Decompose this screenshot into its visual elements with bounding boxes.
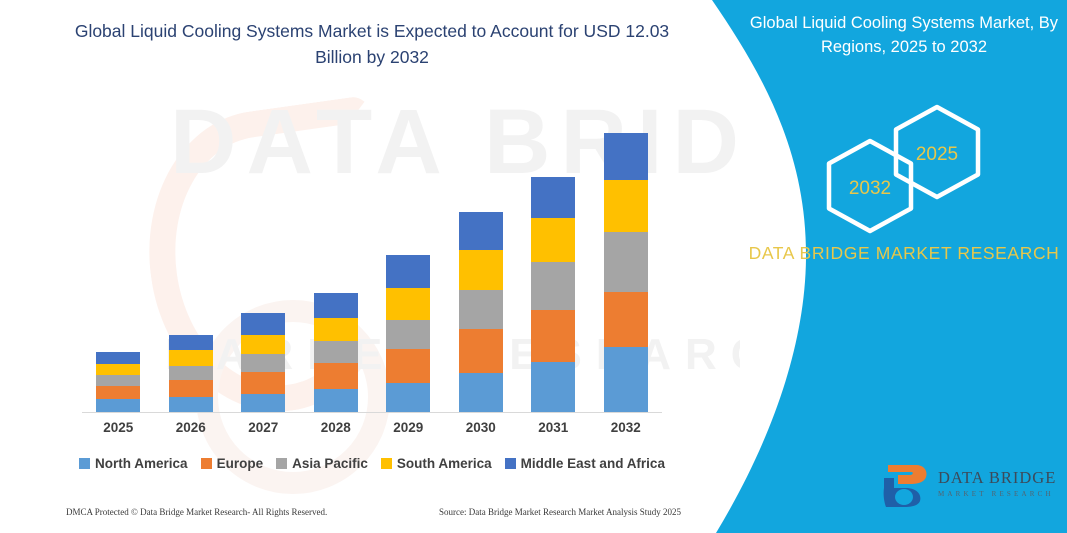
legend-label: Europe: [217, 456, 264, 471]
bar-segment: [531, 310, 575, 362]
x-axis-label-2029: 2029: [373, 420, 443, 435]
chart-title: Global Liquid Cooling Systems Market is …: [62, 18, 682, 71]
bar-segment: [604, 232, 648, 292]
bar-segment: [459, 329, 503, 373]
x-axis-label-2031: 2031: [518, 420, 588, 435]
bar-segment: [241, 354, 285, 372]
infographic-canvas: DATA BRIDGE MARKET RESEARCH Global Liqui…: [0, 0, 1067, 533]
logo-subtitle: MARKET RESEARCH: [938, 490, 1056, 498]
legend-item[interactable]: South America: [381, 456, 492, 471]
legend-label: North America: [95, 456, 188, 471]
bar-segment: [531, 218, 575, 262]
bar-segment: [531, 262, 575, 310]
panel-title: Global Liquid Cooling Systems Market, By…: [746, 12, 1062, 60]
bar-segment: [386, 320, 430, 349]
bar-segment: [169, 397, 213, 412]
bar-segment: [314, 363, 358, 389]
bar-segment: [531, 362, 575, 412]
hexagon-badge-2025: 2025: [890, 103, 984, 206]
bar-column-2026: [169, 335, 213, 412]
bar-segment: [386, 349, 430, 383]
bar-segment: [241, 335, 285, 354]
x-axis-label-2025: 2025: [83, 420, 153, 435]
left-content-area: Global Liquid Cooling Systems Market is …: [0, 0, 740, 533]
x-axis-label-2026: 2026: [156, 420, 226, 435]
bar-column-2031: [531, 177, 575, 412]
footer-source: Source: Data Bridge Market Research Mark…: [439, 507, 681, 517]
right-panel-content: Global Liquid Cooling Systems Market, By…: [740, 0, 1067, 533]
bar-segment: [459, 212, 503, 250]
bar-segment: [96, 352, 140, 364]
bar-segment: [386, 383, 430, 412]
brand-name: DATA BRIDGE MARKET RESEARCH: [746, 240, 1062, 266]
logo-text-block: DATA BRIDGE MARKET RESEARCH: [938, 468, 1056, 498]
legend-item[interactable]: Europe: [201, 456, 264, 471]
bar-segment: [169, 350, 213, 366]
bar-column-2030: [459, 212, 503, 412]
legend-swatch-icon: [381, 458, 392, 469]
bar-segment: [169, 380, 213, 397]
legend-item[interactable]: Middle East and Africa: [505, 456, 665, 471]
bar-segment: [96, 375, 140, 386]
bar-segment: [459, 250, 503, 290]
bar-column-2032: [604, 133, 648, 412]
bar-segment: [531, 177, 575, 218]
bar-segment: [241, 372, 285, 394]
bar-segment: [241, 394, 285, 412]
x-axis-label-2032: 2032: [591, 420, 661, 435]
footer-copyright: DMCA Protected © Data Bridge Market Rese…: [66, 507, 327, 517]
bar-column-2025: [96, 352, 140, 412]
bar-column-2027: [241, 313, 285, 412]
legend-label: South America: [397, 456, 492, 471]
legend-label: Asia Pacific: [292, 456, 368, 471]
legend-item[interactable]: Asia Pacific: [276, 456, 368, 471]
bar-segment: [96, 364, 140, 375]
bar-segment: [386, 288, 430, 320]
bar-column-2029: [386, 255, 430, 412]
footer: DMCA Protected © Data Bridge Market Rese…: [66, 507, 681, 517]
legend-swatch-icon: [201, 458, 212, 469]
x-axis-label-2030: 2030: [446, 420, 516, 435]
bar-segment: [96, 399, 140, 412]
x-axis-labels: 20252026202720282029203020312032: [82, 420, 662, 444]
bar-segment: [459, 373, 503, 412]
bar-segment: [314, 318, 358, 341]
bar-segment: [241, 313, 285, 335]
bar-segment: [169, 366, 213, 380]
data-bridge-logo-icon: [882, 462, 934, 508]
legend-swatch-icon: [79, 458, 90, 469]
bar-segment: [604, 180, 648, 232]
stacked-bar-chart: [82, 100, 662, 413]
logo-title: DATA BRIDGE: [938, 468, 1056, 488]
bar-segment: [604, 133, 648, 180]
bar-segment: [386, 255, 430, 288]
company-logo[interactable]: DATA BRIDGE MARKET RESEARCH: [882, 462, 1062, 508]
hexagon-badge-2025-label: 2025: [890, 103, 984, 206]
x-axis-line: [82, 412, 662, 413]
bar-segment: [314, 293, 358, 318]
x-axis-label-2028: 2028: [301, 420, 371, 435]
legend-swatch-icon: [505, 458, 516, 469]
bar-segment: [169, 335, 213, 350]
bar-segment: [314, 341, 358, 363]
bar-segment: [604, 347, 648, 412]
x-axis-label-2027: 2027: [228, 420, 298, 435]
legend-label: Middle East and Africa: [521, 456, 665, 471]
legend-swatch-icon: [276, 458, 287, 469]
legend-item[interactable]: North America: [79, 456, 188, 471]
bar-segment: [96, 386, 140, 399]
chart-legend: North AmericaEuropeAsia PacificSouth Ame…: [62, 456, 682, 471]
bar-segment: [459, 290, 503, 329]
bar-column-2028: [314, 293, 358, 412]
bar-segment: [314, 389, 358, 412]
bar-segment: [604, 292, 648, 347]
